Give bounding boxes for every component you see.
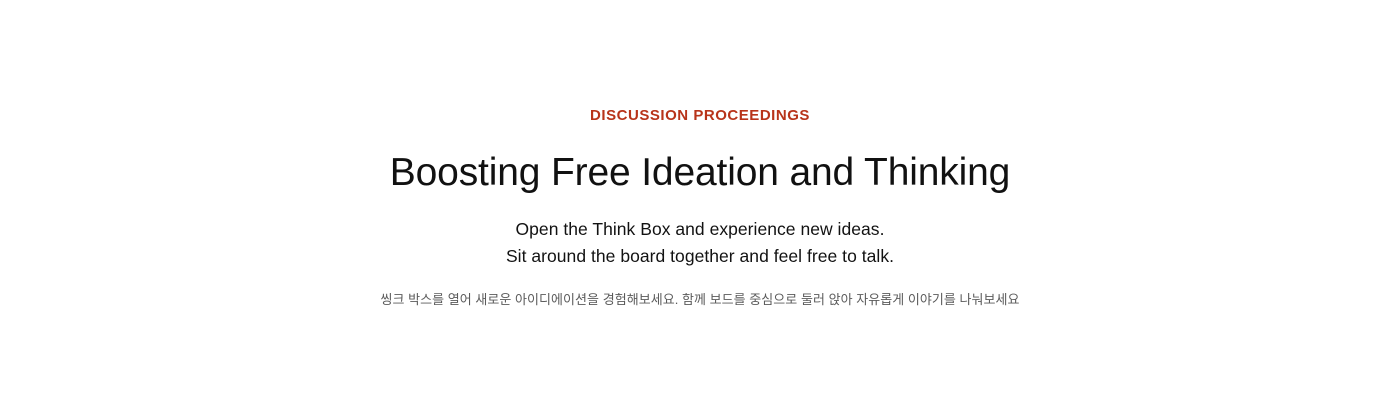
- page-title: Boosting Free Ideation and Thinking: [150, 125, 1250, 196]
- subtitle-block: Open the Think Box and experience new id…: [150, 196, 1250, 269]
- subtitle-line-2: Sit around the board together and feel f…: [150, 243, 1250, 270]
- subtitle-line-1: Open the Think Box and experience new id…: [150, 216, 1250, 243]
- hero-content: DISCUSSION PROCEEDINGS Boosting Free Ide…: [150, 0, 1250, 310]
- hero-section: DISCUSSION PROCEEDINGS Boosting Free Ide…: [0, 0, 1400, 405]
- korean-caption: 씽크 박스를 열어 새로운 아이디에이션을 경험해보세요. 함께 보드를 중심으…: [150, 269, 1250, 310]
- eyebrow-label: DISCUSSION PROCEEDINGS: [150, 0, 1250, 125]
